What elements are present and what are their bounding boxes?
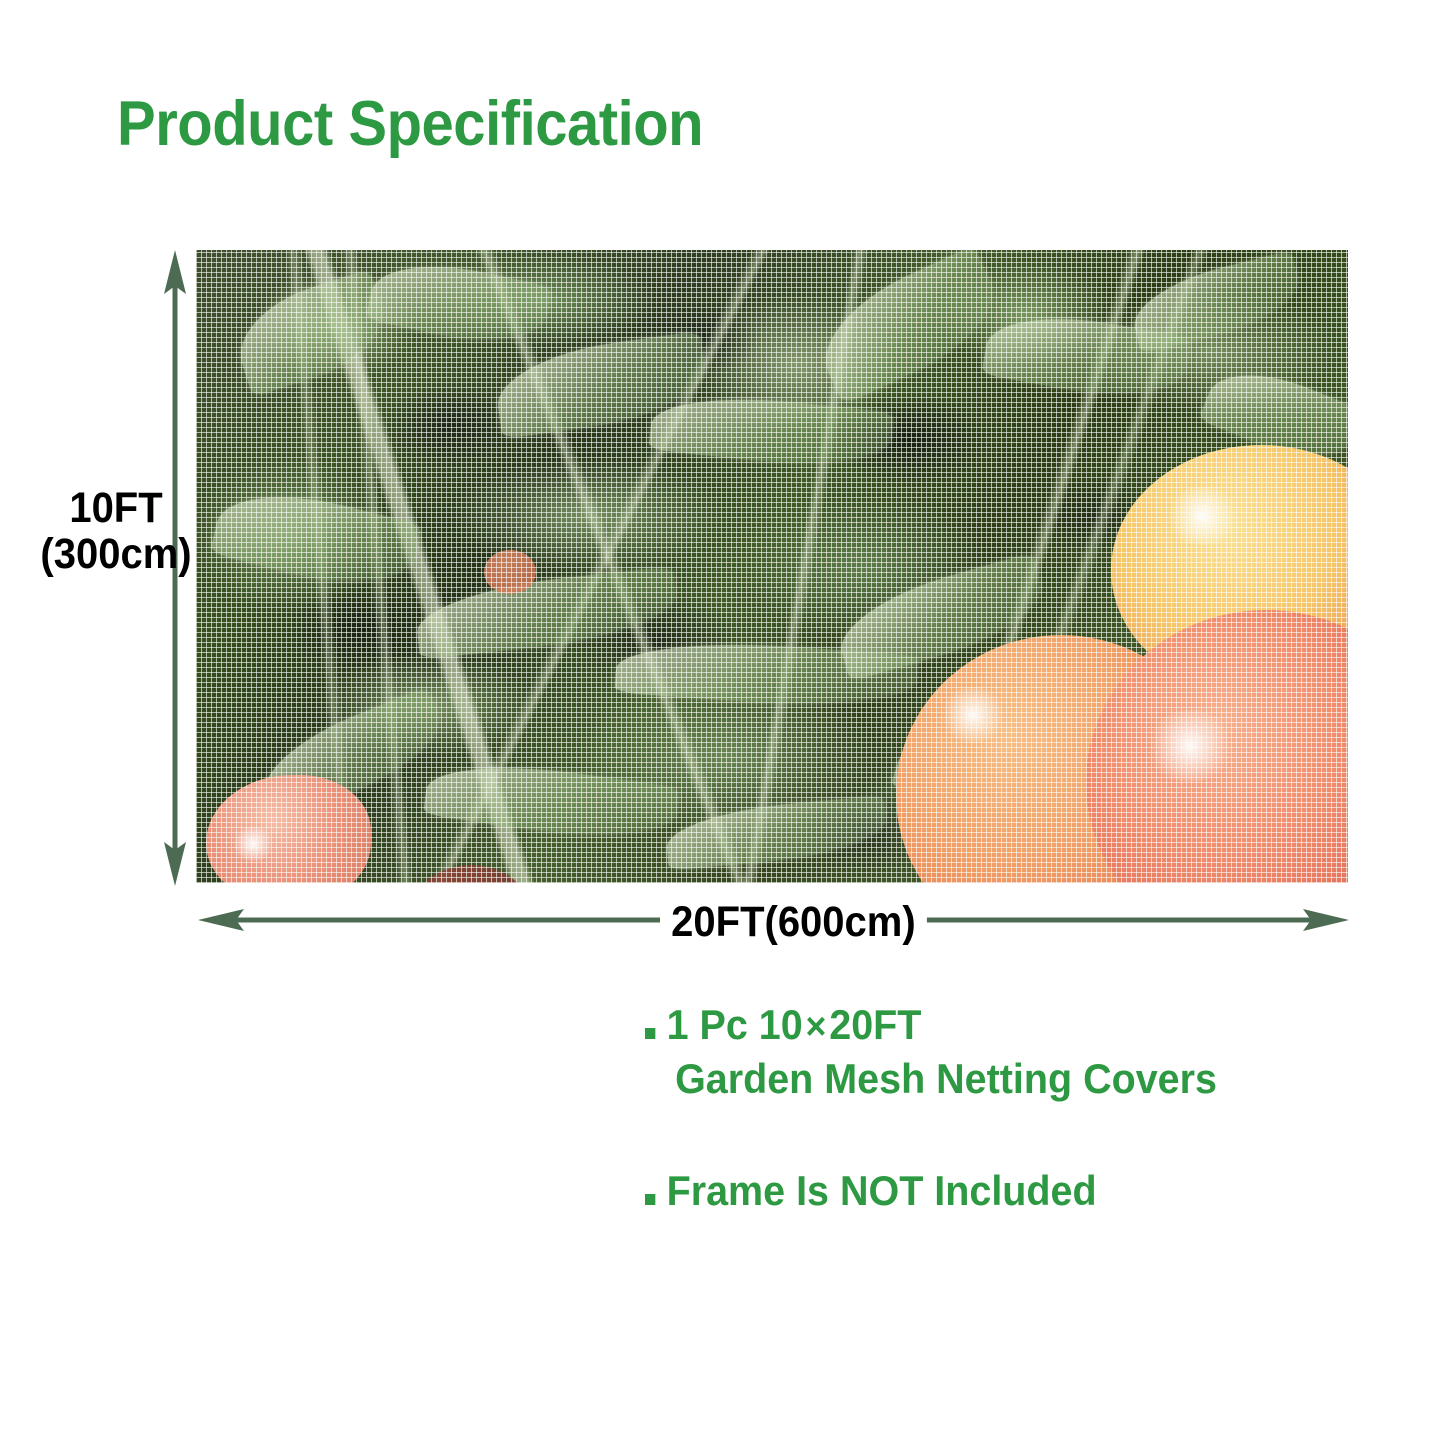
spec-bullet-list: 1 Pc 10×20FT Garden Mesh Netting Covers … [645, 998, 1217, 1275]
bullet-1-text-line2: Garden Mesh Netting Covers [645, 1052, 1217, 1106]
mesh-haze-overlay [196, 250, 1348, 883]
product-photo [196, 250, 1348, 883]
list-item: 1 Pc 10×20FT Garden Mesh Netting Covers [645, 998, 1217, 1106]
list-item: Frame Is NOT Included [645, 1164, 1217, 1218]
height-dimension-label: 10FT (300cm) [23, 486, 209, 577]
bullet-1-text-start: 1 Pc 10 [667, 1001, 803, 1048]
bullet-1-text-end: 20FT [829, 1001, 921, 1048]
page-title: Product Specification [117, 88, 703, 160]
bullet-2-text: Frame Is NOT Included [667, 1167, 1097, 1214]
bullet-line-primary: Frame Is NOT Included [645, 1164, 1217, 1218]
height-label-line1: 10FT [23, 486, 209, 532]
bullet-dot-icon [645, 1028, 655, 1039]
bullet-dot-icon [645, 1194, 655, 1205]
height-label-line2: (300cm) [23, 532, 209, 578]
multiply-sign-icon: × [803, 1006, 830, 1048]
bullet-line-primary: 1 Pc 10×20FT [645, 998, 1217, 1052]
width-dimension-label: 20FT(600cm) [660, 898, 927, 947]
